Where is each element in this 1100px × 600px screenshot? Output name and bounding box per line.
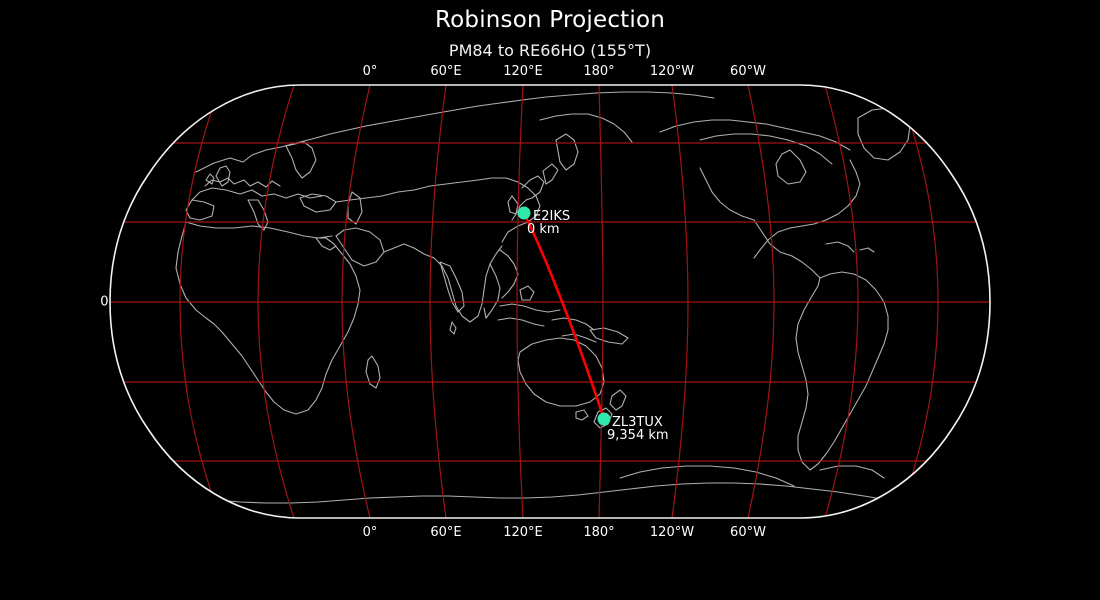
- station-marker-destination[interactable]: [598, 413, 611, 426]
- map-figure: Robinson Projection PM84 to RE66HO (155°…: [0, 0, 1100, 600]
- world-map: [0, 0, 1100, 600]
- station-marker-origin[interactable]: [518, 207, 531, 220]
- map-canvas: [100, 80, 1000, 525]
- station-label-destination-distance: 9,354 km: [607, 428, 669, 443]
- station-label-origin-distance: 0 km: [527, 222, 560, 237]
